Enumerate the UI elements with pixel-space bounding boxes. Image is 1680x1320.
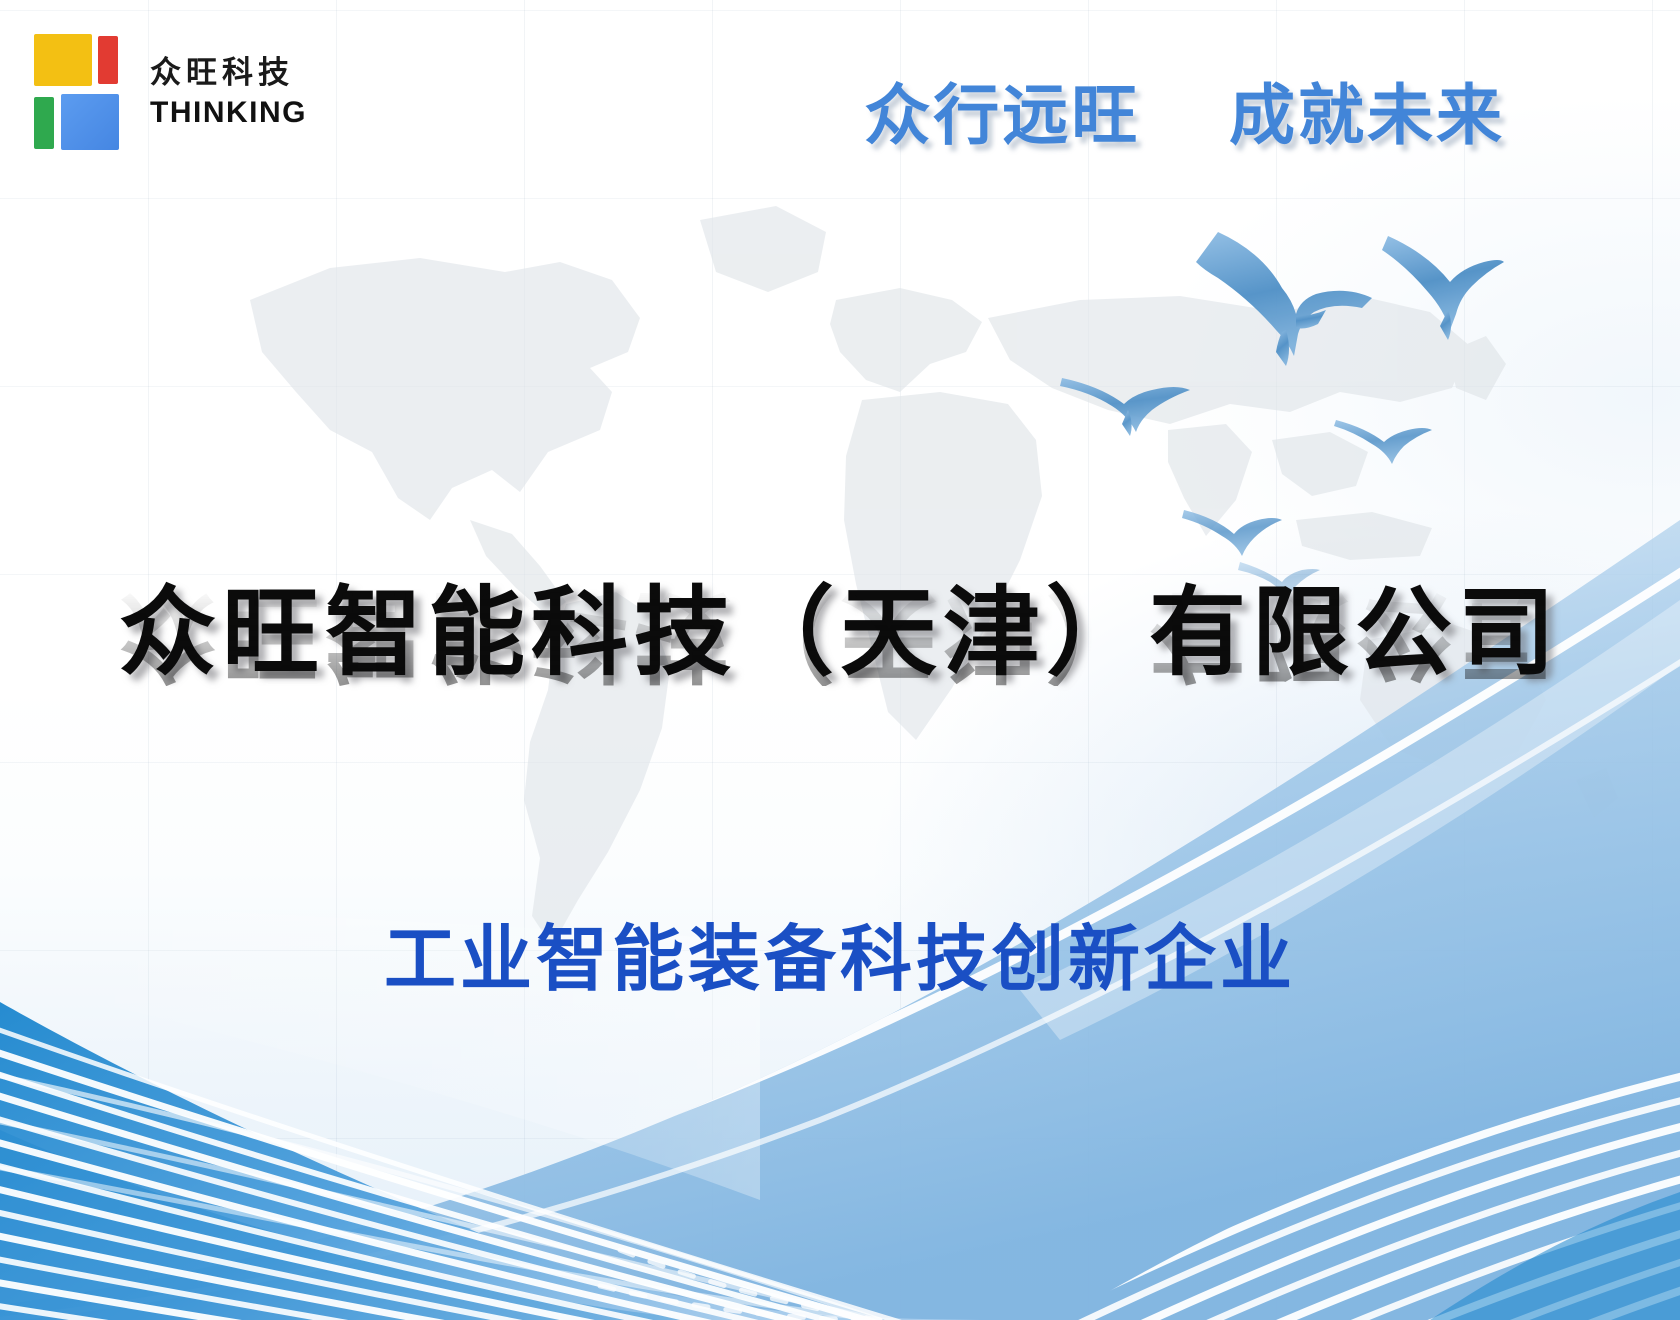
page-subtitle: 工业智能装备科技创新企业	[0, 900, 1680, 1005]
logo-company-en: THINKING	[150, 98, 307, 128]
slide-tagline: 众行远旺 成就未来	[864, 62, 1505, 158]
tagline-part2: 成就未来	[1229, 78, 1505, 152]
company-logo: 众旺科技 THINKING	[34, 34, 307, 156]
tagline-part1: 众行远旺	[864, 78, 1140, 152]
logo-company-cn: 众旺科技	[150, 57, 307, 88]
green-square-icon	[34, 97, 54, 149]
logo-wordmark: 众旺科技 THINKING	[150, 57, 307, 134]
blue-square-icon	[61, 94, 119, 150]
presentation-slide: 众旺科技 THINKING 众行远旺 成就未来 众旺智能科技（天津）有限公司 众…	[0, 0, 1680, 1320]
yellow-square-icon	[34, 34, 92, 86]
title-group: 众旺智能科技（天津）有限公司 众旺智能科技（天津）有限公司	[0, 582, 1680, 788]
four-square-logo-mark	[34, 34, 126, 156]
page-title-reflection: 众旺智能科技（天津）有限公司	[0, 584, 1680, 686]
red-square-icon	[98, 36, 118, 84]
